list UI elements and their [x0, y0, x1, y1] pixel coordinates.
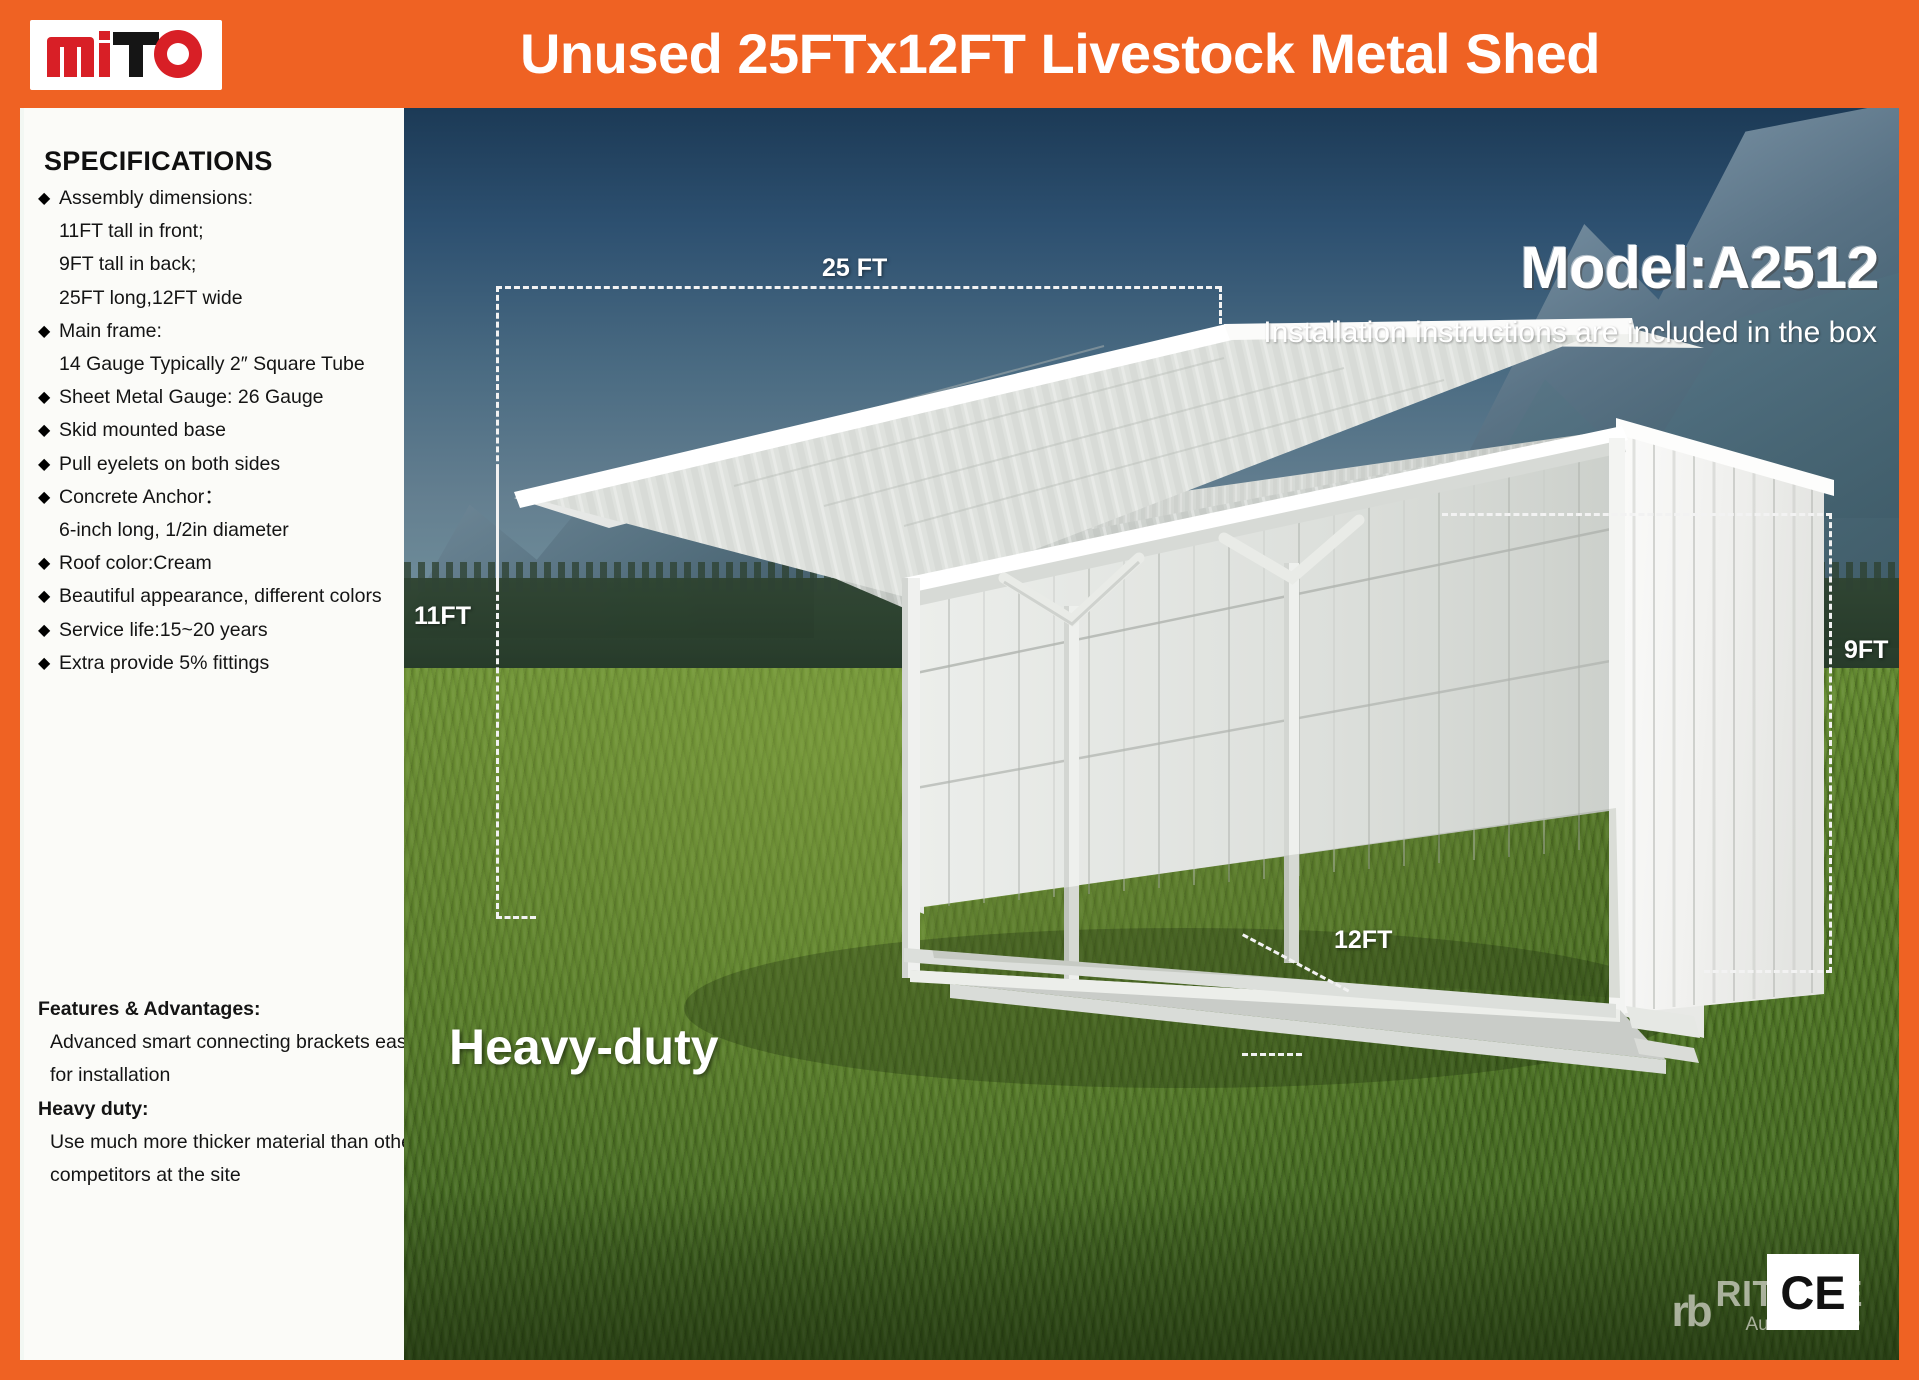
- spec-item: ◆14 Gauge Typically 2″ Square Tube: [38, 348, 406, 381]
- dim-label-width: 12FT: [1334, 926, 1392, 955]
- diamond-bullet-icon: ◆: [38, 315, 59, 348]
- header-bar: Unused 25FTx12FT Livestock Metal Shed: [0, 0, 1919, 108]
- diamond-bullet-icon: ◆: [38, 580, 59, 613]
- spec-item: ◆6-inch long, 1/2in diameter: [38, 514, 406, 547]
- heavy-duty-line: competitors at the site: [38, 1159, 410, 1192]
- spec-item-label: 25FT long,12FT wide: [59, 282, 406, 315]
- heavy-duty-heading: Heavy duty:: [38, 1093, 410, 1126]
- spec-item-label: Sheet Metal Gauge: 26 Gauge: [59, 381, 406, 414]
- spec-item-label: Assembly dimensions:: [59, 182, 406, 215]
- dim-label-back-height: 9FT: [1844, 636, 1888, 665]
- spec-item: ◆11FT tall in front;: [38, 215, 406, 248]
- diamond-bullet-icon: ◆: [38, 481, 59, 514]
- dim-line-back-height-base-tick: [1704, 970, 1832, 973]
- spec-item-label: Extra provide 5% fittings: [59, 647, 406, 680]
- spec-item: ◆Pull eyelets on both sides: [38, 448, 406, 481]
- dim-label-length: 25 FT: [822, 254, 887, 283]
- mito-logo-icon: [41, 27, 211, 83]
- spec-item: ◆Sheet Metal Gauge: 26 Gauge: [38, 381, 406, 414]
- diamond-bullet-icon: ◆: [38, 614, 59, 647]
- diamond-bullet-icon: ◆: [38, 647, 59, 680]
- spec-item: ◆25FT long,12FT wide: [38, 282, 406, 315]
- dim-line-front-height: [496, 468, 499, 918]
- dim-line-front-height-base-tick: [496, 916, 536, 919]
- dim-line-length: [496, 286, 1221, 289]
- dim-line-width-tick: [1242, 1053, 1302, 1056]
- spec-item-label: Skid mounted base: [59, 414, 406, 447]
- features-advantages-block: Features & Advantages: Advanced smart co…: [38, 993, 410, 1192]
- dim-line-back-height-top-tick: [1442, 513, 1832, 516]
- features-line: for installation: [38, 1059, 410, 1092]
- specifications-list: ◆Assembly dimensions: ◆11FT tall in fron…: [38, 182, 406, 680]
- spec-item-label: Pull eyelets on both sides: [59, 448, 406, 481]
- diamond-bullet-icon: ◆: [38, 381, 59, 414]
- spec-item: ◆Roof color:Cream: [38, 547, 406, 580]
- heavy-duty-callout: Heavy-duty: [449, 1018, 719, 1076]
- dim-label-front-height: 11FT: [414, 602, 471, 631]
- features-line: Advanced smart connecting brackets easy: [38, 1026, 410, 1059]
- heavy-duty-line: Use much more thicker material than othe…: [38, 1126, 410, 1159]
- spec-item-label: 11FT tall in front;: [59, 215, 406, 248]
- dim-line-back-height: [1829, 513, 1832, 973]
- spec-item-label: Main frame:: [59, 315, 406, 348]
- spec-item: ◆Concrete Anchor：: [38, 481, 406, 514]
- diamond-bullet-icon: ◆: [38, 182, 59, 215]
- spec-item: ◆Beautiful appearance, different colors: [38, 580, 406, 613]
- poster-title: Unused 25FTx12FT Livestock Metal Shed: [300, 14, 1820, 94]
- installation-note: Installation instructions are included i…: [1263, 316, 1877, 350]
- spec-item: ◆Skid mounted base: [38, 414, 406, 447]
- spec-item-label: Roof color:Cream: [59, 547, 406, 580]
- ce-mark: CE: [1767, 1254, 1859, 1330]
- spec-item-label: Concrete Anchor：: [59, 481, 406, 514]
- mito-logo: [30, 20, 222, 90]
- diamond-bullet-icon: ◆: [38, 448, 59, 481]
- spec-item: ◆Service life:15~20 years: [38, 614, 406, 647]
- spec-item: ◆9FT tall in back;: [38, 248, 406, 281]
- spec-item-label: 14 Gauge Typically 2″ Square Tube: [59, 348, 406, 381]
- spec-item: ◆Assembly dimensions:: [38, 182, 406, 215]
- diamond-bullet-icon: ◆: [38, 414, 59, 447]
- spec-item-label: Beautiful appearance, different colors: [59, 580, 406, 613]
- spec-item: ◆Main frame:: [38, 315, 406, 348]
- product-photo: 25 FT 11FT 9FT 12FT Model:A2512 Installa…: [404, 108, 1899, 1360]
- diamond-bullet-icon: ◆: [38, 547, 59, 580]
- model-label: Model:A2512: [1521, 234, 1879, 302]
- spec-item-label: Service life:15~20 years: [59, 614, 406, 647]
- specifications-heading: SPECIFICATIONS: [44, 146, 273, 177]
- spec-item-label: 9FT tall in back;: [59, 248, 406, 281]
- spec-item-label: 6-inch long, 1/2in diameter: [59, 514, 406, 547]
- product-spec-poster: Unused 25FTx12FT Livestock Metal Shed SP…: [0, 0, 1919, 1380]
- rb-logo-icon: rb: [1672, 1290, 1710, 1334]
- ce-glyph: CE: [1780, 1269, 1845, 1316]
- specifications-panel: SPECIFICATIONS ◆Assembly dimensions: ◆11…: [20, 108, 408, 1360]
- features-heading: Features & Advantages:: [38, 993, 410, 1026]
- spec-item: ◆Extra provide 5% fittings: [38, 647, 406, 680]
- dim-line-length-right-tick: [1219, 286, 1222, 324]
